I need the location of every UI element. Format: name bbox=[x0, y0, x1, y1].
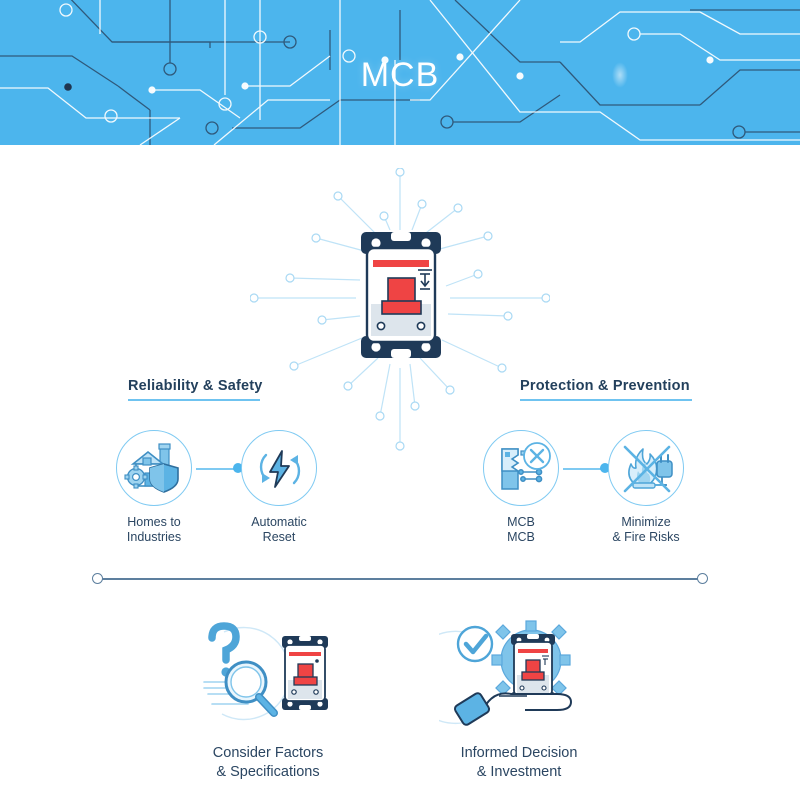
circuit-break-cross-icon bbox=[483, 430, 559, 506]
bottom-label-line1: Consider Factors bbox=[163, 744, 373, 763]
node-label-line1: MCB bbox=[479, 515, 563, 530]
connector-reliability bbox=[196, 463, 242, 473]
node-label-line1: Automatic bbox=[237, 515, 321, 530]
divider-line bbox=[99, 578, 701, 580]
section-heading-reliability: Reliability & Safety bbox=[128, 378, 265, 401]
divider-endpoint-left bbox=[92, 573, 103, 584]
no-fire-plug-icon bbox=[608, 430, 684, 506]
node-consider-factors[interactable]: Consider Factors & Specifications bbox=[163, 618, 373, 782]
node-label-line2: Industries bbox=[112, 530, 196, 545]
lightning-bolt-refresh-icon bbox=[241, 430, 317, 506]
heading-underline bbox=[128, 399, 260, 401]
node-label-line2: MCB bbox=[479, 530, 563, 545]
bottom-node-label: Informed Decision & Investment bbox=[414, 744, 624, 782]
node-minimize-fire-risks[interactable]: Minimize & Fire Risks bbox=[604, 430, 688, 545]
bottom-label-line2: & Investment bbox=[414, 763, 624, 782]
section-title-text: Reliability & Safety bbox=[128, 378, 263, 394]
node-homes-to-industries[interactable]: Homes to Industries bbox=[112, 430, 196, 545]
node-informed-decision[interactable]: Informed Decision & Investment bbox=[414, 618, 624, 782]
section-heading-protection: Protection & Prevention bbox=[520, 378, 692, 401]
node-label-line1: Homes to bbox=[112, 515, 196, 530]
section-title-text: Protection & Prevention bbox=[520, 378, 690, 394]
node-label-line1: Minimize bbox=[604, 515, 688, 530]
node-label-line2: & Fire Risks bbox=[604, 530, 688, 545]
node-label-line2: Reset bbox=[237, 530, 321, 545]
connector-protection bbox=[563, 463, 609, 473]
header-banner: MCB bbox=[0, 0, 800, 145]
heading-underline bbox=[520, 399, 692, 401]
node-label: Minimize & Fire Risks bbox=[604, 515, 688, 545]
bottom-label-line1: Informed Decision bbox=[414, 744, 624, 763]
mcb-device-graphic bbox=[355, 230, 447, 360]
page-title: MCB bbox=[0, 56, 800, 95]
node-label: Automatic Reset bbox=[237, 515, 321, 545]
check-gear-hand-breaker-icon bbox=[439, 618, 599, 728]
hero-mcb-illustration bbox=[250, 168, 550, 458]
question-magnifier-breaker-icon bbox=[188, 618, 348, 728]
house-factory-shield-gear-icon bbox=[116, 430, 192, 506]
bottom-node-label: Consider Factors & Specifications bbox=[163, 744, 373, 782]
node-automatic-reset[interactable]: Automatic Reset bbox=[237, 430, 321, 545]
bottom-label-line2: & Specifications bbox=[163, 763, 373, 782]
divider-endpoint-right bbox=[697, 573, 708, 584]
node-mcb[interactable]: MCB MCB bbox=[479, 430, 563, 545]
node-label: MCB MCB bbox=[479, 515, 563, 545]
section-divider bbox=[92, 573, 708, 585]
node-label: Homes to Industries bbox=[112, 515, 196, 545]
